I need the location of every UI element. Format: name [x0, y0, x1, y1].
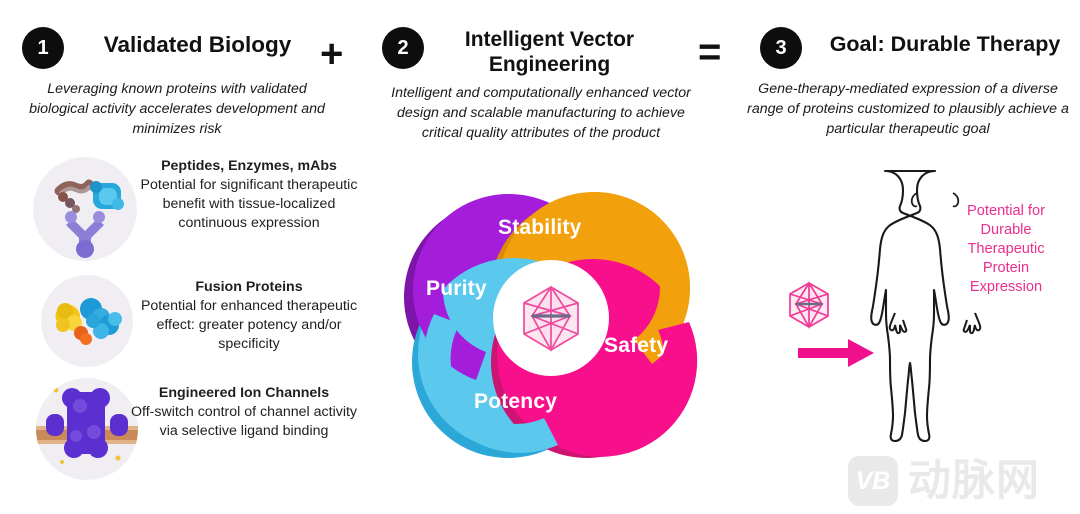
item-3-body: Off-switch control of channel activity v…: [131, 404, 357, 439]
ring-label-purity: Purity: [426, 277, 487, 301]
pink-arrow-right-icon: [796, 336, 876, 370]
watermark-logo-mark: VB: [848, 456, 898, 506]
item-1-heading: Peptides, Enzymes, mAbs: [140, 157, 358, 176]
step-badge-1: 1: [22, 27, 64, 69]
column-title-1: Validated Biology: [90, 32, 305, 58]
column-title-2: Intelligent Vector Engineering: [437, 28, 662, 77]
infographic-canvas: 1 Validated Biology + Leveraging known p…: [0, 0, 1080, 514]
ring-label-potency: Potency: [474, 390, 557, 414]
protein-structures-thumbnail: [33, 157, 137, 261]
step-badge-2: 2: [382, 27, 424, 69]
operator-equals-icon: =: [698, 32, 721, 72]
item-3-text: Engineered Ion Channels Off-switch contr…: [128, 384, 360, 441]
ring-label-stability: Stability: [498, 216, 581, 240]
column-lede-1: Leveraging known proteins with validated…: [22, 80, 332, 140]
item-2-text: Fusion Proteins Potential for enhanced t…: [140, 278, 358, 354]
ring-label-safety: Safety: [604, 334, 668, 358]
column-title-3: Goal: Durable Therapy: [816, 32, 1074, 57]
column-lede-3: Gene-therapy-mediated expression of a di…: [742, 80, 1074, 140]
item-1-body: Potential for significant therapeutic be…: [141, 177, 358, 231]
item-2-heading: Fusion Proteins: [140, 278, 358, 297]
column-lede-2: Intelligent and computationally enhanced…: [376, 84, 706, 144]
operator-plus-icon: +: [320, 34, 343, 74]
watermark-text: 动脉网: [908, 460, 1040, 503]
durable-expression-note: Potential for Durable Therapeutic Protei…: [950, 202, 1062, 297]
fusion-protein-thumbnail: [41, 275, 133, 367]
item-1-text: Peptides, Enzymes, mAbs Potential for si…: [140, 157, 358, 233]
ion-channel-membrane-thumbnail: [36, 378, 138, 480]
step-badge-3: 3: [760, 27, 802, 69]
viral-capsid-icosahedron-icon: [786, 281, 832, 329]
watermark: VB 动脉网: [848, 455, 1074, 507]
quality-attributes-ring-diagram: Stability Safety Potency Purity: [390, 172, 710, 462]
item-3-heading: Engineered Ion Channels: [128, 384, 360, 403]
item-2-body: Potential for enhanced therapeutic effec…: [141, 298, 357, 352]
